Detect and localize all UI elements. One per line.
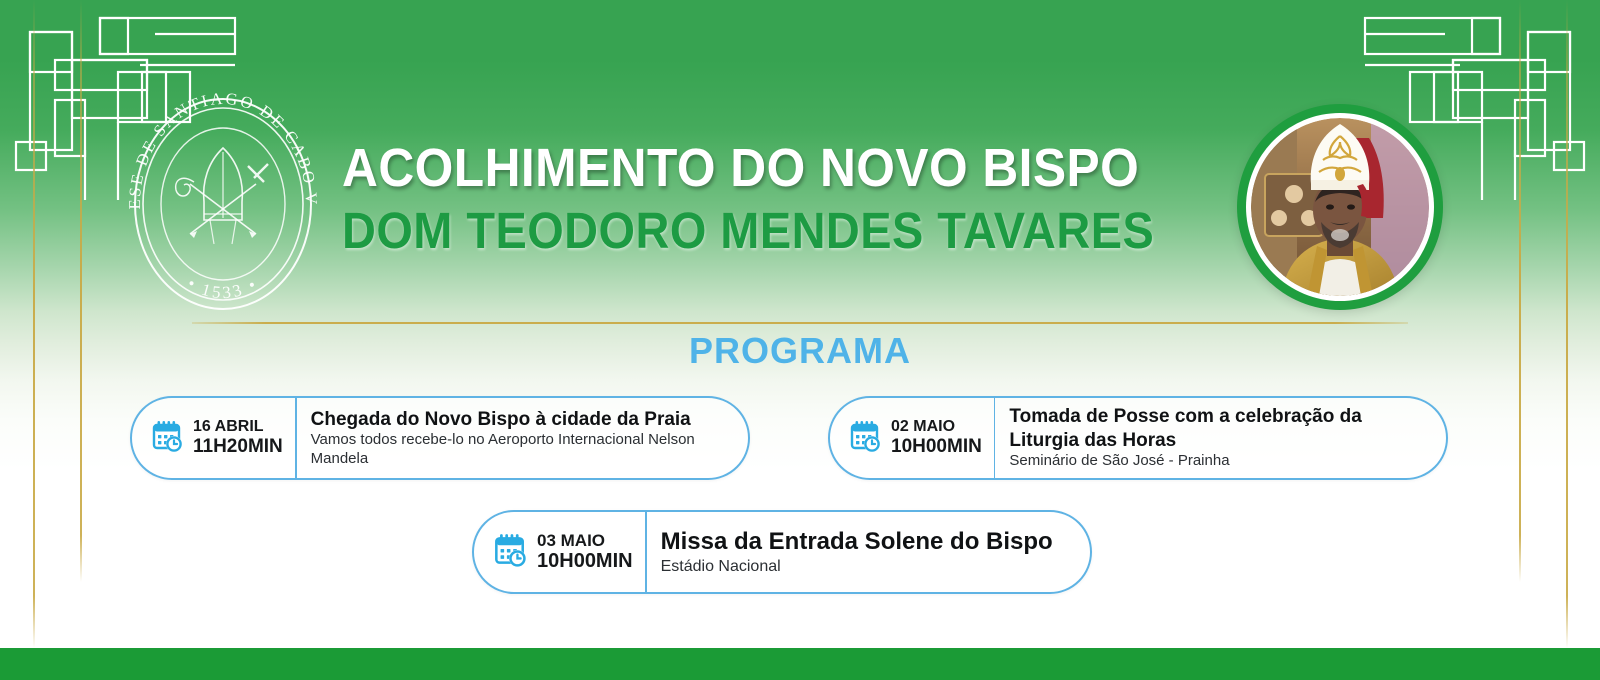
event-subtitle: Seminário de São José - Prainha xyxy=(1009,452,1428,471)
event-title: Chegada do Novo Bispo à cidade da Praia xyxy=(311,408,730,431)
event-card-3[interactable]: 03 MAIO 10H00MIN Missa da Entrada Solene… xyxy=(472,510,1092,594)
event-date-col: 03 MAIO 10H00MIN xyxy=(474,512,645,592)
svg-text:• 1533 •: • 1533 • xyxy=(184,274,262,303)
event-date-col: 16 ABRIL 11H20MIN xyxy=(132,398,295,478)
event-card-2[interactable]: 02 MAIO 10H00MIN Tomada de Posse com a c… xyxy=(828,396,1448,480)
event-date: 16 ABRIL xyxy=(193,418,283,436)
calendar-clock-icon xyxy=(846,418,882,459)
calendar-clock-icon xyxy=(490,531,528,574)
diocese-seal: DIOCESE DE SANTIAGO DE CABO VERDE • 1533… xyxy=(118,86,328,316)
event-title: Tomada de Posse com a celebração da Litu… xyxy=(1009,405,1428,451)
gold-rule-right-inner xyxy=(1519,0,1521,582)
event-time: 10H00MIN xyxy=(891,436,982,457)
headline-line-2: DOM TEODORO MENDES TAVARES xyxy=(342,200,1142,262)
gold-rule-left-outer xyxy=(33,0,35,648)
event-body: Missa da Entrada Solene do Bispo Estádio… xyxy=(647,527,1071,576)
bishop-portrait xyxy=(1237,104,1443,310)
event-title: Missa da Entrada Solene do Bispo xyxy=(661,527,1053,556)
poster-headline: ACOLHIMENTO DO NOVO BISPO DOM TEODORO ME… xyxy=(342,136,1212,262)
svg-text:DIOCESE DE SANTIAGO DE CABO VE: DIOCESE DE SANTIAGO DE CABO VERDE xyxy=(118,86,321,210)
event-time: 11H20MIN xyxy=(193,436,283,457)
page-title-programa: PROGRAMA xyxy=(0,330,1600,372)
gold-rule-left-inner xyxy=(80,0,82,582)
event-time: 10H00MIN xyxy=(537,550,633,572)
gold-rule-horizontal xyxy=(192,322,1408,324)
headline-line-1: ACOLHIMENTO DO NOVO BISPO xyxy=(342,136,1142,200)
bottom-green-bar xyxy=(0,648,1600,680)
event-date-col: 02 MAIO 10H00MIN xyxy=(830,398,994,478)
event-date: 03 MAIO xyxy=(537,531,633,550)
event-subtitle: Estádio Nacional xyxy=(661,557,1053,577)
event-datetime: 02 MAIO 10H00MIN xyxy=(891,418,982,457)
event-subtitle: Vamos todos recebe-lo no Aeroporto Inter… xyxy=(311,431,730,469)
poster-banner: DIOCESE DE SANTIAGO DE CABO VERDE • 1533… xyxy=(0,0,1600,680)
gold-rule-right-outer xyxy=(1566,0,1568,648)
portrait-photo xyxy=(1251,118,1429,296)
event-card-1[interactable]: 16 ABRIL 11H20MIN Chegada do Novo Bispo … xyxy=(130,396,750,480)
event-date: 02 MAIO xyxy=(891,418,982,436)
calendar-clock-icon xyxy=(148,418,184,459)
event-body: Tomada de Posse com a celebração da Litu… xyxy=(995,405,1446,470)
event-body: Chegada do Novo Bispo à cidade da Praia … xyxy=(297,408,748,469)
event-datetime: 16 ABRIL 11H20MIN xyxy=(193,418,283,457)
event-datetime: 03 MAIO 10H00MIN xyxy=(537,531,633,572)
